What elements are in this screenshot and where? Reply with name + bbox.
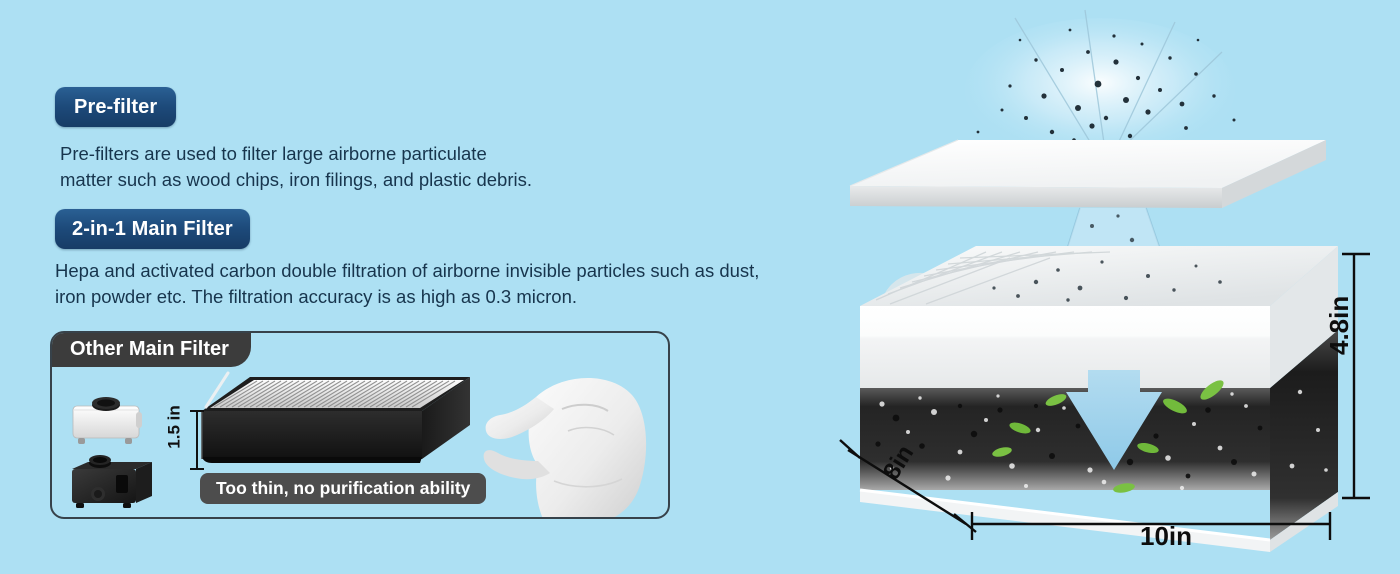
product-height-label: 4.8in: [1324, 296, 1355, 355]
white-purifier-thumbnail: [70, 392, 152, 448]
pre-filter-top-panel: [850, 140, 1326, 208]
hepa-layer-front: [860, 306, 1270, 388]
product-width-label: 10in: [1140, 521, 1192, 552]
base-front: [860, 490, 1270, 552]
left-content-column: Pre-filter Pre-filters are used to filte…: [0, 0, 700, 574]
purifier-exploded-view: [830, 0, 1400, 574]
other-main-filter-tab-label: Other Main Filter: [50, 331, 251, 367]
air-purifier-product-illustration: 4.8in 10in 8in: [830, 0, 1400, 574]
black-purifier-thumbnail: [68, 453, 154, 511]
too-thin-caption: Too thin, no purification ability: [200, 473, 486, 504]
filter-thickness-label: 1.5 in: [165, 405, 185, 448]
pre-filter-description: Pre-filters are used to filter large air…: [60, 141, 680, 193]
other-main-filter-panel: Other Main Filter: [50, 331, 670, 519]
badge-pre-filter: Pre-filter: [55, 87, 176, 127]
purifier-main-body: [860, 246, 1338, 552]
filter-thickness-dimension: 1.5 in: [159, 405, 205, 475]
main-filter-description: Hepa and activated carbon double filtrat…: [55, 258, 885, 310]
infographic-canvas: Pre-filter Pre-filters are used to filte…: [0, 0, 1400, 574]
badge-2-in-1-main-filter: 2-in-1 Main Filter: [55, 209, 250, 249]
thin-hepa-filter-illustration: [188, 371, 478, 489]
